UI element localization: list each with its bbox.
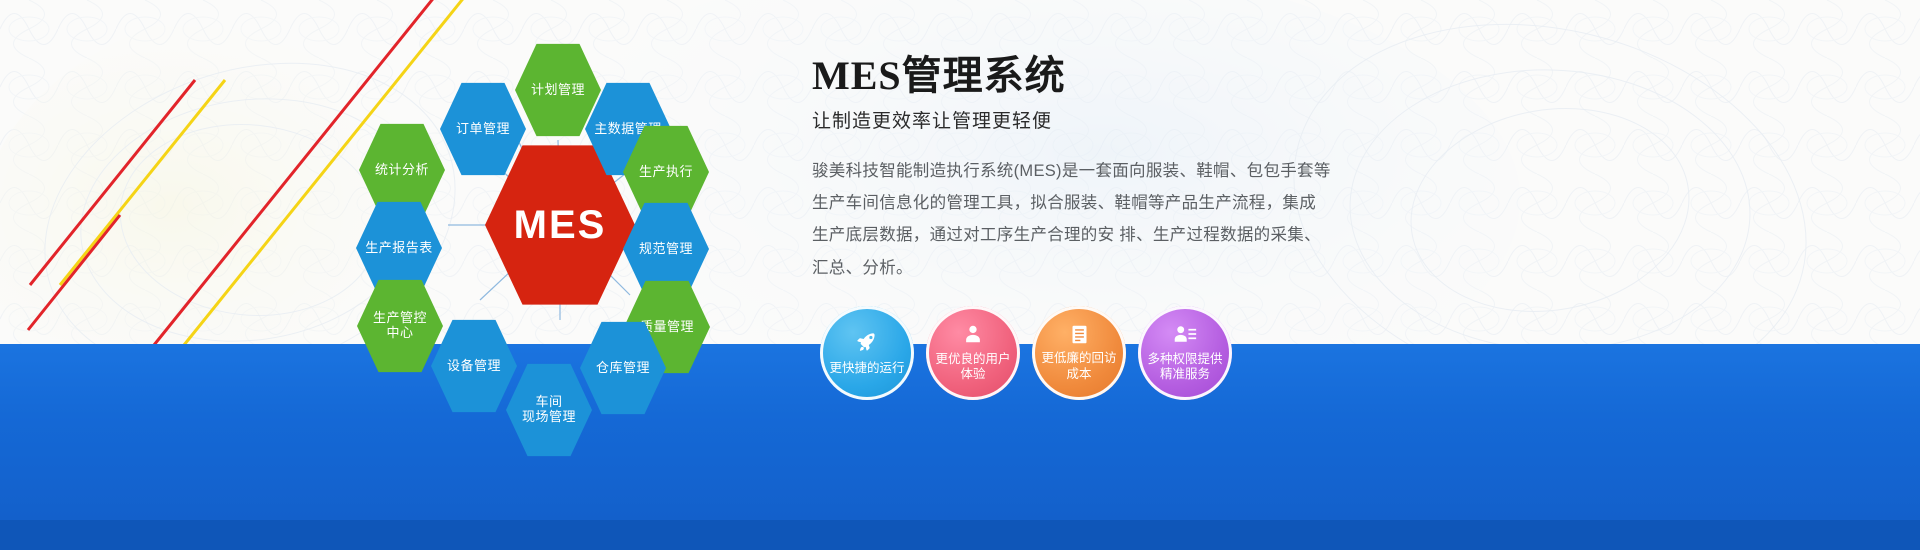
hex-label: 计划管理 xyxy=(531,83,585,98)
hex-label: 生产报告表 xyxy=(365,241,433,256)
user-list-icon xyxy=(1173,323,1197,350)
badge-label: 更优良的用户体验 xyxy=(929,352,1016,383)
band-footer-strip xyxy=(0,520,1920,550)
mes-banner: MES 计划管理 订单管理 主数据管理 生产执行 统计分析 规范管理 生产报告表… xyxy=(0,0,1920,550)
hex-label: 生产管控中心 xyxy=(373,311,427,341)
mes-hex-diagram: MES 计划管理 订单管理 主数据管理 生产执行 统计分析 规范管理 生产报告表… xyxy=(330,20,790,440)
hex-center-label: MES xyxy=(514,202,607,248)
badge-label: 更低廉的回访成本 xyxy=(1035,351,1122,382)
hex-label: 车间现场管理 xyxy=(522,395,576,425)
hex-label: 仓库管理 xyxy=(596,361,650,376)
badge-label: 多种权限提供精准服务 xyxy=(1141,352,1228,383)
rocket-icon xyxy=(855,330,879,359)
badge-lower-revisit-cost[interactable]: 更低廉的回访成本 xyxy=(1032,306,1126,400)
badge-better-user-experience[interactable]: 更优良的用户体验 xyxy=(926,306,1020,400)
page-title: MES管理系统 xyxy=(812,54,1332,98)
hex-label: 设备管理 xyxy=(447,359,501,374)
feature-badges: 更快捷的运行 更优良的用户体验 xyxy=(820,306,1232,400)
description-paragraph: 骏美科技智能制造执行系统(MES)是一套面向服装、鞋帽、包包手套等生产车间信息化… xyxy=(812,155,1332,284)
content-column: MES管理系统 让制造更效率让管理更轻便 骏美科技智能制造执行系统(MES)是一… xyxy=(812,54,1332,284)
document-icon xyxy=(1069,324,1090,350)
hex-label: 生产执行 xyxy=(639,165,693,180)
hex-label: 订单管理 xyxy=(456,122,510,137)
hex-label: 规范管理 xyxy=(639,242,693,257)
badge-faster-operation[interactable]: 更快捷的运行 xyxy=(820,306,914,400)
page-subtitle: 让制造更效率让管理更轻便 xyxy=(812,106,1332,133)
hex-label: 统计分析 xyxy=(375,163,429,178)
user-icon xyxy=(962,323,984,350)
badge-label: 更快捷的运行 xyxy=(823,361,910,377)
badge-multi-permission[interactable]: 多种权限提供精准服务 xyxy=(1138,306,1232,400)
